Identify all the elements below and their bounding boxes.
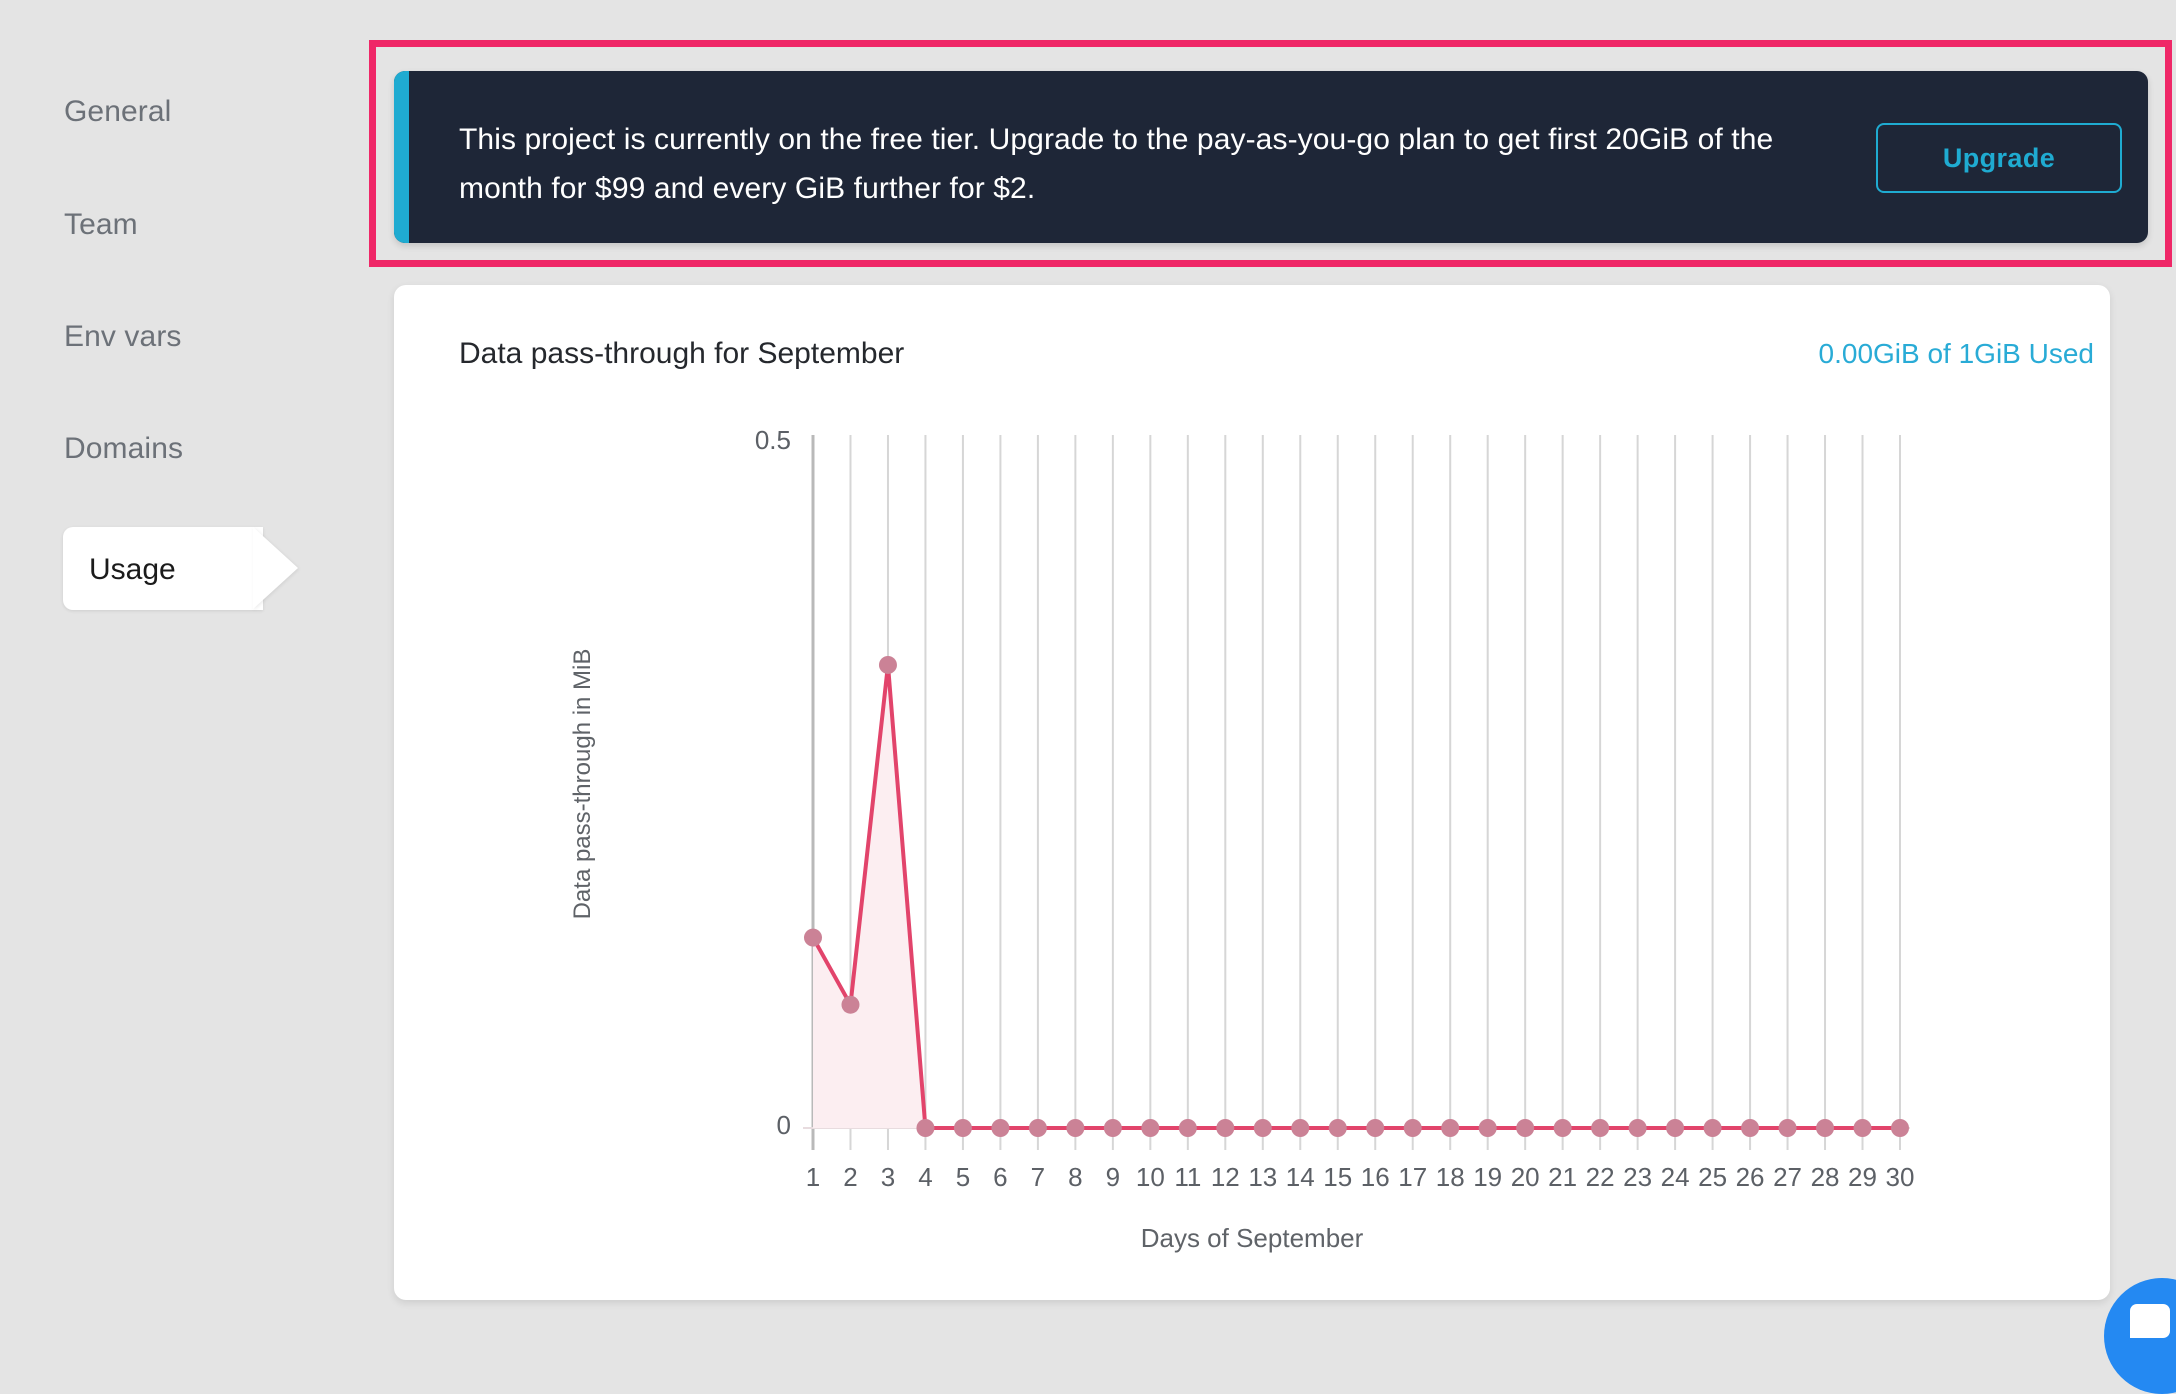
data-point[interactable] <box>1366 1119 1384 1137</box>
x-axis-label: Days of September <box>394 1223 2110 1254</box>
data-point[interactable] <box>1404 1119 1422 1137</box>
data-point[interactable] <box>954 1119 972 1137</box>
chat-bubble-icon <box>2130 1304 2170 1338</box>
sidebar-item-label: General <box>64 95 171 128</box>
data-point[interactable] <box>1066 1119 1084 1137</box>
data-point[interactable] <box>1854 1119 1872 1137</box>
data-point[interactable] <box>841 996 859 1014</box>
banner-accent-bar <box>394 71 409 243</box>
data-point[interactable] <box>1216 1119 1234 1137</box>
sidebar-item-env-vars[interactable]: Env vars <box>64 320 182 354</box>
data-point[interactable] <box>1441 1119 1459 1137</box>
sidebar-item-label: Usage <box>89 553 176 587</box>
data-point[interactable] <box>1516 1119 1534 1137</box>
sidebar-item-team[interactable]: Team <box>64 208 138 242</box>
data-pass-through-chart: 00.5123456789101112131415161718192021222… <box>394 285 2110 1300</box>
data-point[interactable] <box>1779 1119 1797 1137</box>
y-axis-tick-label: 0.5 <box>721 425 791 456</box>
sidebar-active-arrow-icon <box>253 527 298 609</box>
x-axis-tick-label: 30 <box>1877 1162 1923 1193</box>
data-point[interactable] <box>804 929 822 947</box>
banner-message: This project is currently on the free ti… <box>459 115 1829 213</box>
sidebar-item-label: Env vars <box>64 320 182 353</box>
sidebar-item-domains[interactable]: Domains <box>64 432 183 466</box>
data-point[interactable] <box>1141 1119 1159 1137</box>
data-point[interactable] <box>1479 1119 1497 1137</box>
chat-widget-button[interactable] <box>2104 1278 2176 1394</box>
sidebar-item-general[interactable]: General <box>64 95 171 129</box>
data-point[interactable] <box>1704 1119 1722 1137</box>
y-axis-tick-label: 0 <box>721 1110 791 1141</box>
data-point[interactable] <box>916 1119 934 1137</box>
data-point[interactable] <box>1179 1119 1197 1137</box>
data-point[interactable] <box>1816 1119 1834 1137</box>
data-point[interactable] <box>1554 1119 1572 1137</box>
usage-card: Data pass-through for September 0.00GiB … <box>394 285 2110 1300</box>
sidebar-item-label: Team <box>64 208 138 241</box>
data-point[interactable] <box>1254 1119 1272 1137</box>
sidebar: General Team Env vars Domains Usage <box>0 0 390 1316</box>
data-point[interactable] <box>1591 1119 1609 1137</box>
data-point[interactable] <box>1329 1119 1347 1137</box>
data-point[interactable] <box>1629 1119 1647 1137</box>
sidebar-item-usage[interactable]: Usage <box>63 527 263 610</box>
data-point[interactable] <box>879 656 897 674</box>
series-line <box>813 665 1900 1128</box>
sidebar-item-label: Domains <box>64 432 183 465</box>
data-point[interactable] <box>1666 1119 1684 1137</box>
data-point[interactable] <box>1291 1119 1309 1137</box>
area-fill <box>813 665 1900 1128</box>
upgrade-button[interactable]: Upgrade <box>1876 123 2122 193</box>
data-point[interactable] <box>991 1119 1009 1137</box>
data-point[interactable] <box>1029 1119 1047 1137</box>
data-point[interactable] <box>1104 1119 1122 1137</box>
chart-svg <box>394 285 2110 1300</box>
data-point[interactable] <box>1891 1119 1909 1137</box>
data-point[interactable] <box>1741 1119 1759 1137</box>
y-axis-label: Data pass-through in MiB <box>569 634 597 934</box>
